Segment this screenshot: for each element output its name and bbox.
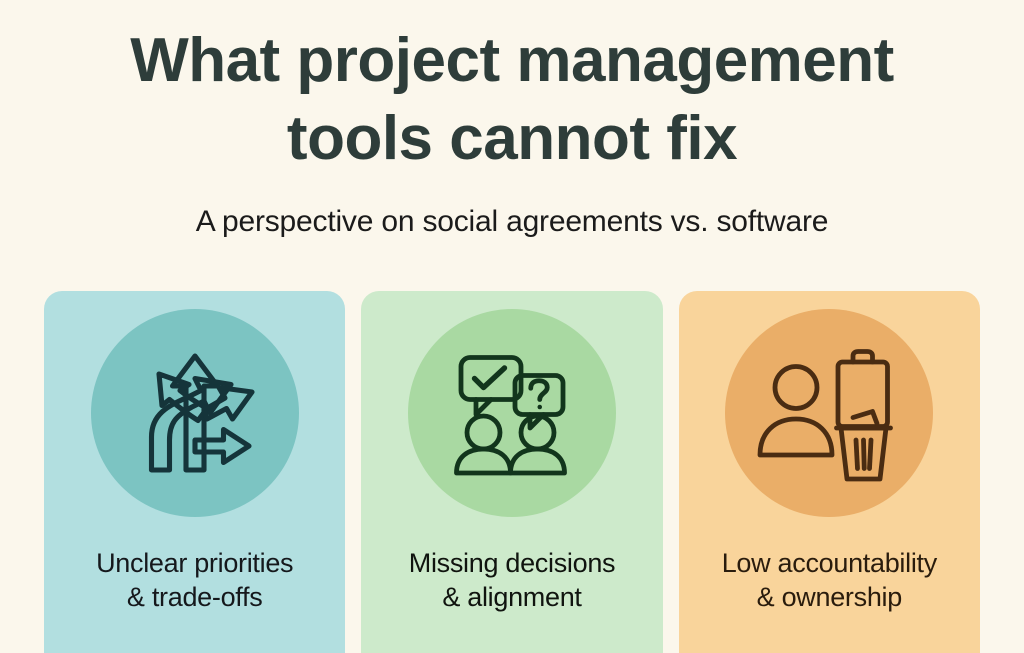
page-subtitle: A perspective on social agreements vs. s… [0,205,1024,239]
card-low-accountability[interactable]: Low accountability & ownership [679,291,980,653]
page-title-line-2: tools cannot fix [287,104,737,173]
card-label-line-1: Low accountability [722,547,937,581]
two-people-speech-bubbles-icon [437,338,587,488]
card-missing-decisions[interactable]: Missing decisions & alignment [361,291,662,653]
diverging-arrows-icon [120,338,270,488]
cards-row: Unclear priorities & trade-offs [44,291,980,653]
icon-circle-low-accountability [725,309,933,517]
page-title-line-1: What project management [130,26,894,95]
page-title: What project management tools cannot fix [62,22,962,177]
card-label-low-accountability: Low accountability & ownership [712,547,947,615]
infographic-poster: What project management tools cannot fix… [0,0,1024,653]
card-label-unclear-priorities: Unclear priorities & trade-offs [86,547,303,615]
card-label-missing-decisions: Missing decisions & alignment [399,547,625,615]
card-label-line-2: & trade-offs [96,581,293,615]
header-block: What project management tools cannot fix… [0,0,1024,239]
card-unclear-priorities[interactable]: Unclear priorities & trade-offs [44,291,345,653]
icon-circle-unclear-priorities [91,309,299,517]
icon-circle-missing-decisions [408,309,616,517]
card-label-line-2: & alignment [409,581,615,615]
person-clipboard-trash-icon [754,338,904,488]
card-label-line-1: Unclear priorities [96,547,293,581]
card-label-line-2: & ownership [722,581,937,615]
card-label-line-1: Missing decisions [409,547,615,581]
